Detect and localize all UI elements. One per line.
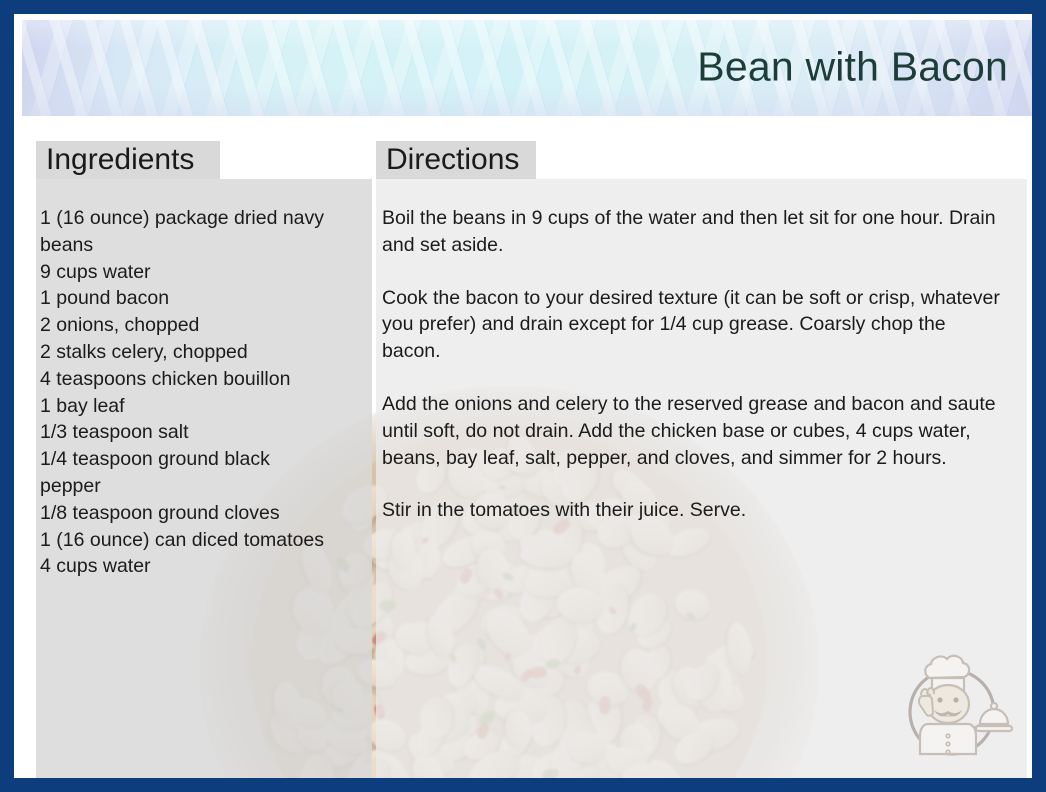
directions-text: Boil the beans in 9 cups of the water an… [376, 179, 1027, 534]
ingredients-list: 1 (16 ounce) package dried navy beans 9 … [36, 179, 372, 590]
bean-shape [594, 776, 630, 792]
ingredients-panel: 1 (16 ounce) package dried navy beans 9 … [36, 179, 372, 792]
list-item: 1/4 teaspoon ground black [40, 446, 350, 473]
list-item: 2 onions, chopped [40, 312, 350, 339]
ingredients-heading: Ingredients [46, 145, 194, 175]
direction-step: Add the onions and celery to the reserve… [382, 391, 1009, 471]
directions-tab: Directions [376, 141, 536, 179]
list-item: 1 (16 ounce) can diced tomatoes [40, 527, 350, 554]
list-item: 1 bay leaf [40, 393, 350, 420]
ingredients-tab: Ingredients [36, 141, 220, 179]
bean-shape [477, 788, 531, 792]
bean-shape [512, 786, 561, 792]
recipe-title: Bean with Bacon [697, 47, 1008, 88]
garnish-speck [567, 779, 585, 792]
header-banner: Bean with Bacon [22, 20, 1032, 116]
list-item: 9 cups water [40, 259, 350, 286]
list-item: 4 cups water [40, 553, 350, 580]
direction-step: Boil the beans in 9 cups of the water an… [382, 205, 1009, 259]
list-item: 1/3 teaspoon salt [40, 419, 350, 446]
list-item: 1/8 teaspoon ground cloves [40, 500, 350, 527]
directions-panel: Boil the beans in 9 cups of the water an… [376, 179, 1027, 792]
list-item: pepper [40, 473, 350, 500]
recipe-card: Bean with Bacon Ingredients 1 (16 ounce)… [0, 0, 1046, 792]
list-item: 4 teaspoons chicken bouillon [40, 366, 350, 393]
direction-step: Stir in the tomatoes with their juice. S… [382, 497, 1009, 524]
direction-step: Cook the bacon to your desired texture (… [382, 285, 1009, 365]
list-item: beans [40, 232, 350, 259]
list-item: 1 (16 ounce) package dried navy [40, 205, 350, 232]
list-item: 2 stalks celery, chopped [40, 339, 350, 366]
bean-shape [640, 782, 672, 792]
list-item: 1 pound bacon [40, 285, 350, 312]
directions-heading: Directions [386, 145, 519, 175]
